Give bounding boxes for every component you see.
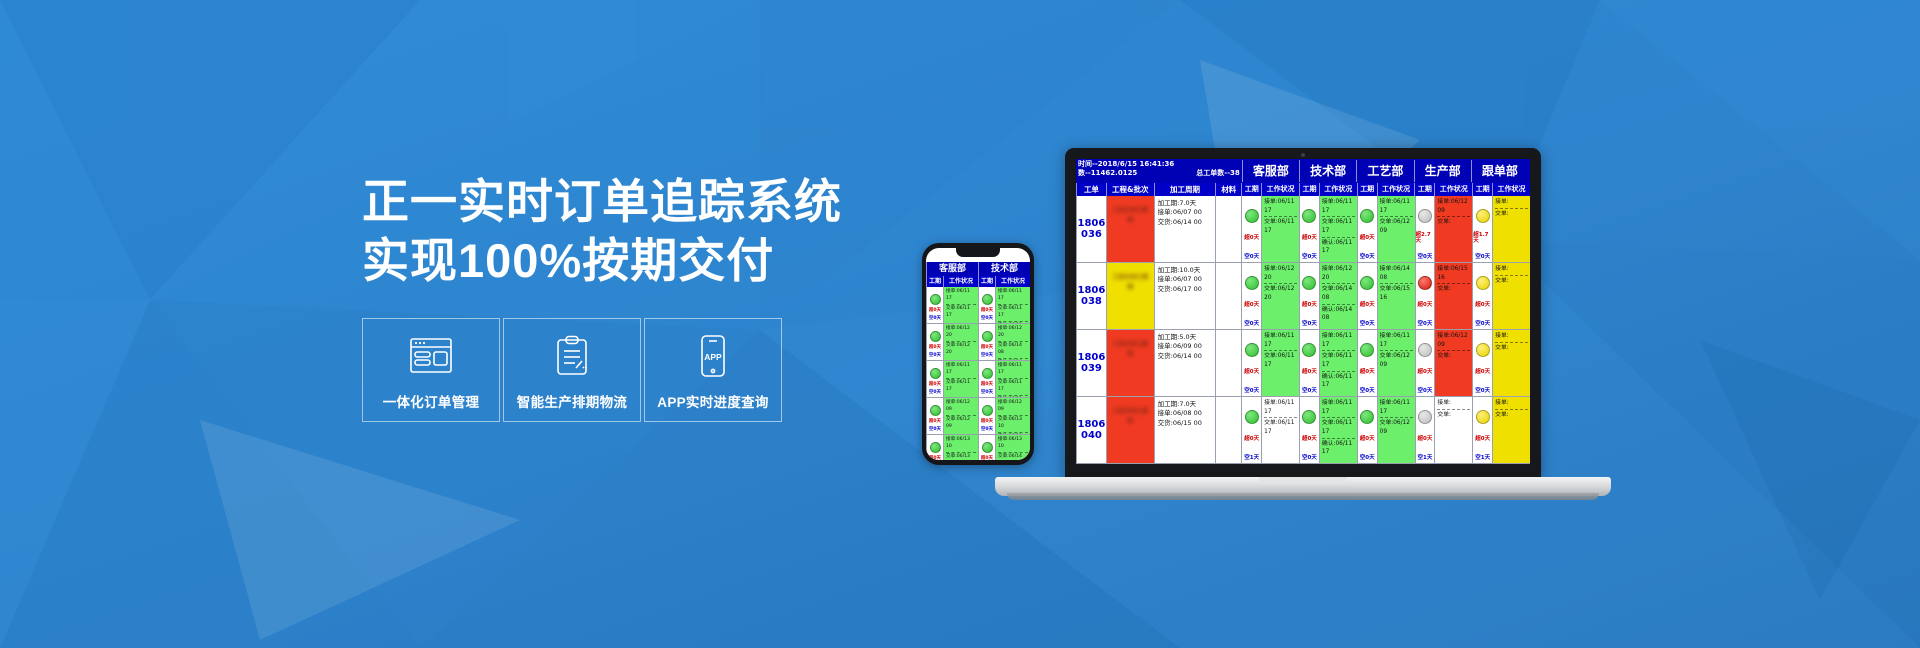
idle-days-tag: 空0天 xyxy=(981,391,993,396)
dept-duration-cell[interactable]: 超0天空0天 xyxy=(978,324,995,360)
dept-work-status-cell[interactable]: 接单:06/13 10交单:06/13 10 xyxy=(943,435,978,460)
idle-days-tag: 空0天 xyxy=(1475,322,1490,328)
erp-column-header: 工期 xyxy=(1414,183,1434,196)
dept-work-status-cell[interactable]: 接单:06/12 20交单:06/14 08确认:06/14 08 xyxy=(1319,263,1357,329)
work-status-line: 交单: xyxy=(1437,411,1470,420)
dept-work-status-cell[interactable]: 接单:06/11 17交单:06/11 17确认:06/11 17 xyxy=(1319,330,1357,396)
work-status-line: 接单:06/12 09 xyxy=(998,400,1028,414)
over-days-tag: 超0天 xyxy=(1360,303,1375,309)
idle-days-tag: 空0天 xyxy=(1475,389,1490,395)
dept-duration-cell[interactable]: 超0天空0天 xyxy=(1299,263,1319,329)
work-status-line: 交单:06/11 17 xyxy=(1264,419,1297,436)
status-indicator-green-icon xyxy=(1302,209,1316,223)
erp-department-header: 客服部 xyxy=(1242,160,1299,182)
schedule-line: 接单:06/08 00 xyxy=(1158,409,1214,418)
work-status-line: 接单:06/11 17 xyxy=(1322,198,1355,215)
erp-column-header: 工单 xyxy=(1076,183,1106,196)
schedule-line: 接单:06/09 00 xyxy=(1158,342,1214,351)
dept-work-status-cell[interactable]: 接单:06/12 09交单: xyxy=(1434,330,1472,396)
status-indicator-green-icon xyxy=(930,331,941,342)
table-row[interactable]: 超0天空0天接单:06/11 17交单:06/11 17超0天空0天接单:06/… xyxy=(926,287,1030,324)
over-days-tag: 超0天 xyxy=(1475,437,1490,443)
work-status-line: 交单:06/11 17 xyxy=(1322,218,1355,235)
order-number-top: 1806 xyxy=(1078,285,1106,296)
over-days-tag: 超0天 xyxy=(1302,303,1317,309)
dept-duration-cell[interactable]: 超0天空0天 xyxy=(1472,263,1492,329)
order-number-bottom: 038 xyxy=(1081,296,1102,307)
erp-column-header: 工期 xyxy=(926,276,943,287)
work-status-line: 交单:06/11 17 xyxy=(946,306,976,320)
work-status-line: 交单: xyxy=(1495,210,1528,219)
work-status-line: 交单:06/15 16 xyxy=(1380,285,1413,302)
over-days-tag: 超0天 xyxy=(1302,236,1317,242)
dept-work-status-cell[interactable]: 接单:06/11 17交单:06/11 17确认:06/11 17 xyxy=(995,361,1030,397)
erp-column-header: 工期 xyxy=(1299,183,1319,196)
dept-duration-cell[interactable]: 超0天空0天 xyxy=(1357,196,1377,262)
work-status-line: 交单: xyxy=(1437,352,1470,361)
idle-days-tag: 空1天 xyxy=(1475,456,1490,462)
project-batch-cell[interactable]: 工程名称已模糊 xyxy=(1106,330,1154,396)
work-status-line: 确认:06/11 17 xyxy=(1322,440,1355,457)
table-row[interactable]: 1806036工程名称已模糊加工期:7.0天接单:06/07 00交货:06/1… xyxy=(1076,196,1530,263)
browser-window-icon xyxy=(409,332,453,380)
over-days-tag: 超0天 xyxy=(981,383,993,388)
dept-work-status-cell[interactable]: 接单:06/14 08交单:06/15 16 xyxy=(1377,263,1415,329)
dept-duration-cell[interactable]: 超0天空1天 xyxy=(1472,397,1492,463)
hero-copy: 正一实时订单追踪系统 实现100%按期交付 xyxy=(362,172,882,290)
over-days-tag: 超0天 xyxy=(1302,370,1317,376)
work-status-line: 交单:06/12 20 xyxy=(1264,285,1297,302)
idle-days-tag: 空0天 xyxy=(1244,389,1259,395)
schedule-line: 加工期:5.0天 xyxy=(1158,333,1214,342)
schedule-line: 加工期:10.0天 xyxy=(1158,266,1214,275)
dept-work-status-cell[interactable]: 接单:06/11 17交单:06/11 17 xyxy=(943,361,978,397)
work-status-line: 交单:06/12 09 xyxy=(1380,218,1413,235)
status-indicator-green-icon xyxy=(1245,209,1259,223)
erp-column-header: 工作状况 xyxy=(1319,183,1357,196)
status-indicator-grey-icon xyxy=(1418,343,1432,357)
over-days-tag: 超0天 xyxy=(1360,437,1375,443)
idle-days-tag: 空0天 xyxy=(929,391,941,396)
work-status-line: 确认:06/11 17 xyxy=(1322,239,1355,256)
erp-column-header: 工作状况 xyxy=(943,276,978,287)
erp-time-label: 时间--2018/6/15 16:41:36 xyxy=(1078,160,1242,169)
work-status-line: 接单:06/12 09 xyxy=(1437,332,1470,349)
order-number-cell[interactable]: 1806036 xyxy=(1076,196,1106,262)
dept-duration-cell[interactable]: 超0天空0天 xyxy=(1357,397,1377,463)
idle-days-tag: 空0天 xyxy=(1418,255,1433,261)
idle-days-tag: 空0天 xyxy=(1418,322,1433,328)
dept-duration-cell[interactable]: 超0天空0天 xyxy=(978,398,995,434)
status-indicator-yellow-icon xyxy=(1476,343,1490,357)
work-status-line: 交单: xyxy=(1495,277,1528,286)
order-number-cell[interactable]: 1806040 xyxy=(1076,397,1106,463)
work-status-line: 接单:06/12 09 xyxy=(946,400,976,414)
schedule-line: 加工期:7.0天 xyxy=(1158,199,1214,208)
schedule-line: 交货:06/14 00 xyxy=(1158,352,1214,361)
schedule-line: 加工期:7.0天 xyxy=(1158,400,1214,409)
idle-days-tag: 空1天 xyxy=(1418,456,1433,462)
work-status-line: 接单:06/12 09 xyxy=(1437,198,1470,215)
work-status-line: 接单:06/11 17 xyxy=(1380,399,1413,416)
over-days-tag: 超0天 xyxy=(929,420,941,425)
idle-days-tag: 空0天 xyxy=(1418,389,1433,395)
svg-text:APP: APP xyxy=(704,352,722,362)
idle-days-tag: 空1天 xyxy=(1244,456,1259,462)
work-status-line: 接单:06/11 17 xyxy=(998,363,1028,377)
status-indicator-green-icon xyxy=(982,368,993,379)
over-days-tag: 超0天 xyxy=(1418,303,1433,309)
idle-days-tag: 空0天 xyxy=(1302,389,1317,395)
table-row[interactable]: 超0天空0天接单:06/11 17交单:06/11 17超0天空0天接单:06/… xyxy=(926,361,1030,398)
order-number-cell[interactable]: 1806038 xyxy=(1076,263,1106,329)
work-status-line: 交单: xyxy=(1437,285,1470,294)
project-batch-text: 工程名称已模糊 xyxy=(1107,330,1154,370)
over-days-tag: 超0天 xyxy=(981,457,993,461)
erp-department-header: 客服部 xyxy=(926,262,978,276)
dept-duration-cell[interactable]: 超0天空0天 xyxy=(1472,330,1492,396)
dept-duration-cell[interactable]: 超0天空0天 xyxy=(1415,263,1435,329)
status-indicator-green-icon xyxy=(930,442,941,453)
processing-cycle-cell[interactable]: 加工期:10.0天接单:06/07 00交货:06/17 00 xyxy=(1154,263,1216,329)
status-indicator-green-icon xyxy=(1360,343,1374,357)
phone-notch xyxy=(956,248,1000,257)
dept-work-status-cell[interactable]: 接单:交单: xyxy=(1492,397,1530,463)
work-status-line: 接单:06/11 17 xyxy=(1264,332,1297,349)
work-status-line: 交单:06/11 17 xyxy=(998,380,1028,394)
status-indicator-green-icon xyxy=(930,294,941,305)
dept-duration-cell[interactable]: 超1.7天空0天 xyxy=(1472,196,1492,262)
order-number-top: 1806 xyxy=(1078,419,1106,430)
status-indicator-yellow-icon xyxy=(1476,209,1490,223)
dept-work-status-cell[interactable]: 接单:06/12 09交单:06/13 10确认:06/13 10 xyxy=(995,398,1030,434)
status-indicator-green-icon xyxy=(982,442,993,453)
order-number-top: 1806 xyxy=(1078,218,1106,229)
work-status-line: 交单:06/14 11 xyxy=(998,454,1028,460)
dept-work-status-cell[interactable]: 接单:06/11 17交单:06/11 17 xyxy=(1261,196,1299,262)
dept-work-status-cell[interactable]: 接单:06/12 09交单: xyxy=(1434,196,1472,262)
dept-duration-cell[interactable]: 超0天空1天 xyxy=(1241,397,1261,463)
work-status-line: 接单:06/11 17 xyxy=(998,289,1028,303)
work-status-line: 交单:06/11 17 xyxy=(946,380,976,394)
idle-days-tag: 空0天 xyxy=(1360,322,1375,328)
dept-work-status-cell[interactable]: 接单:交单: xyxy=(1492,330,1530,396)
over-days-tag: 超0天 xyxy=(1418,370,1433,376)
status-indicator-green-icon xyxy=(1360,209,1374,223)
dept-work-status-cell[interactable]: 接单:06/12 20交单:06/12 20 xyxy=(1261,263,1299,329)
table-row[interactable]: 1806039工程名称已模糊加工期:5.0天接单:06/09 00交货:06/1… xyxy=(1076,330,1530,397)
dept-duration-cell[interactable]: 超0天空0天 xyxy=(1299,330,1319,396)
dept-work-status-cell[interactable]: 接单:06/11 17交单:06/11 17 xyxy=(943,287,978,323)
over-days-tag: 超0天 xyxy=(1475,370,1490,376)
work-status-line: 交单:06/11 17 xyxy=(1322,419,1355,436)
status-indicator-green-icon xyxy=(982,331,993,342)
material-cell[interactable] xyxy=(1215,196,1241,262)
over-days-tag: 超0天 xyxy=(929,346,941,351)
dept-duration-cell[interactable]: 超0天空0天 xyxy=(926,324,943,360)
work-status-line: 接单:06/13 10 xyxy=(998,437,1028,451)
erp-column-header: 材料 xyxy=(1215,183,1241,196)
processing-cycle-cell[interactable]: 加工期:7.0天接单:06/07 00交货:06/14 00 xyxy=(1154,196,1216,262)
table-row[interactable]: 超0天空0天接单:06/12 09交单:06/12 09超0天空0天接单:06/… xyxy=(926,398,1030,435)
project-batch-text: 工程名称已模糊 xyxy=(1107,397,1154,437)
status-indicator-green-icon xyxy=(1245,276,1259,290)
dept-work-status-cell[interactable]: 接单:06/13 10交单:06/14 11确认:06/14 11 xyxy=(995,435,1030,460)
work-status-line: 交单:06/13 10 xyxy=(946,454,976,460)
idle-days-tag: 空0天 xyxy=(1302,322,1317,328)
phone-table-body: 超0天空0天接单:06/11 17交单:06/11 17超0天空0天接单:06/… xyxy=(926,287,1030,460)
status-indicator-green-icon xyxy=(1302,410,1316,424)
work-status-line: 接单:06/11 17 xyxy=(1264,399,1297,416)
erp-column-header: 加工周期 xyxy=(1154,183,1216,196)
work-status-line: 接单: xyxy=(1495,198,1528,207)
work-status-line: 接单:06/14 08 xyxy=(1380,265,1413,282)
processing-cycle-cell[interactable]: 加工期:5.0天接单:06/09 00交货:06/14 00 xyxy=(1154,330,1216,396)
schedule-line: 接单:06/07 00 xyxy=(1158,208,1214,217)
idle-days-tag: 空0天 xyxy=(929,428,941,433)
schedule-line: 交货:06/15 00 xyxy=(1158,419,1214,428)
erp-column-header: 工期 xyxy=(1241,183,1261,196)
over-days-tag: 超0天 xyxy=(1302,437,1317,443)
erp-column-header: 工作状况 xyxy=(1434,183,1472,196)
over-days-tag: 超0天 xyxy=(929,457,941,461)
project-batch-text: 工程名称已模糊 xyxy=(1107,263,1154,303)
erp-column-header: 工作状况 xyxy=(1377,183,1415,196)
feature-card-app-progress-query[interactable]: APP APP实时进度查询 xyxy=(644,318,782,422)
project-batch-cell[interactable]: 工程名称已模糊 xyxy=(1106,397,1154,463)
work-status-line: 交单:06/11 17 xyxy=(1322,352,1355,369)
dept-work-status-cell[interactable]: 接单:06/11 17交单:06/11 17 xyxy=(1261,330,1299,396)
erp-column-header: 工作状况 xyxy=(1492,183,1530,196)
table-row[interactable]: 1806038工程名称已模糊加工期:10.0天接单:06/07 00交货:06/… xyxy=(1076,263,1530,330)
mobile-app-icon: APP xyxy=(698,332,728,380)
over-days-tag: 超0天 xyxy=(929,309,941,314)
dept-work-status-cell[interactable]: 接单:交单: xyxy=(1492,196,1530,262)
order-number-bottom: 039 xyxy=(1081,363,1102,374)
status-indicator-green-icon xyxy=(1360,276,1374,290)
work-status-line: 接单:06/12 20 xyxy=(946,326,976,340)
erp-total-label: 总工单数--38 xyxy=(1196,169,1240,178)
work-status-line: 交单:06/12 20 xyxy=(946,343,976,357)
over-days-tag: 超0天 xyxy=(1244,370,1259,376)
idle-days-tag: 空0天 xyxy=(981,428,993,433)
work-status-line: 接单: xyxy=(1495,265,1528,274)
project-batch-text: 工程名称已模糊 xyxy=(1107,196,1154,236)
status-indicator-green-icon xyxy=(1302,276,1316,290)
dept-duration-cell[interactable]: 超0天空0天 xyxy=(1241,196,1261,262)
work-status-line: 接单: xyxy=(1437,399,1470,408)
dept-duration-cell[interactable]: 超0天空0天 xyxy=(978,435,995,460)
erp-column-header: 工期 xyxy=(1472,183,1492,196)
status-indicator-yellow-icon xyxy=(1476,276,1490,290)
dept-work-status-cell[interactable]: 接单:06/11 17交单:06/12 09 xyxy=(1377,330,1415,396)
phone-mockup: 客服部技术部工期工作状况工期工作状况超0天空0天接单:06/11 17交单:06… xyxy=(922,243,1034,465)
laptop-lid: 时间--2018/6/15 16:41:36数--11462.0125总工单数-… xyxy=(1065,148,1541,480)
phone-body: 客服部技术部工期工作状况工期工作状况超0天空0天接单:06/11 17交单:06… xyxy=(922,243,1034,465)
dept-duration-cell[interactable]: 超0天空0天 xyxy=(1299,196,1319,262)
headline-line-1: 正一实时订单追踪系统 xyxy=(362,172,882,231)
over-days-tag: 超0天 xyxy=(1244,236,1259,242)
status-indicator-green-icon xyxy=(1360,410,1374,424)
work-status-line: 交单:06/11 17 xyxy=(998,306,1028,320)
feature-label: 智能生产排期物流 xyxy=(517,391,627,411)
over-days-tag: 超0天 xyxy=(1475,303,1490,309)
dept-duration-cell[interactable]: 超0天空0天 xyxy=(926,287,943,323)
work-status-line: 接单:06/12 20 xyxy=(1322,265,1355,282)
order-number-bottom: 036 xyxy=(1081,229,1102,240)
erp-table-body: 1806036工程名称已模糊加工期:7.0天接单:06/07 00交货:06/1… xyxy=(1076,196,1530,464)
material-cell[interactable] xyxy=(1215,397,1241,463)
erp-column-header: 工作状况 xyxy=(995,276,1030,287)
dept-work-status-cell[interactable]: 接单:交单: xyxy=(1434,397,1472,463)
work-status-line: 接单:06/11 17 xyxy=(1322,399,1355,416)
status-indicator-green-icon xyxy=(1245,343,1259,357)
feature-list: 一体化订单管理 智能生产排期物流 APP AP xyxy=(362,318,782,422)
table-row[interactable]: 超0天空0天接单:06/13 10交单:06/13 10超0天空0天接单:06/… xyxy=(926,435,1030,460)
status-indicator-green-icon xyxy=(982,294,993,305)
phone-screen[interactable]: 客服部技术部工期工作状况工期工作状况超0天空0天接单:06/11 17交单:06… xyxy=(926,248,1030,460)
dept-duration-cell[interactable]: 超0天空0天 xyxy=(978,361,995,397)
order-number-top: 1806 xyxy=(1078,352,1106,363)
work-status-line: 接单: xyxy=(1495,332,1528,341)
dept-work-status-cell[interactable]: 接单:06/12 20交单:06/12 20 xyxy=(943,324,978,360)
dept-work-status-cell[interactable]: 接单:06/11 17交单:06/11 17确认:06/11 17 xyxy=(995,287,1030,323)
work-status-line: 交单:06/12 09 xyxy=(1380,352,1413,369)
erp-column-header: 工期 xyxy=(978,276,995,287)
work-status-line: 交单:06/14 08 xyxy=(1322,285,1355,302)
erp-department-header: 技术部 xyxy=(978,262,1030,276)
work-status-line: 接单: xyxy=(1495,399,1528,408)
dept-duration-cell[interactable]: 超0天空0天 xyxy=(1241,330,1261,396)
dept-duration-cell[interactable]: 超0天空0天 xyxy=(978,287,995,323)
work-status-line: 接单:06/15 16 xyxy=(1437,265,1470,282)
status-indicator-red-icon xyxy=(1418,276,1432,290)
work-status-line: 接单:06/11 17 xyxy=(946,363,976,377)
dept-work-status-cell[interactable]: 接单:06/11 17交单:06/12 09 xyxy=(1377,397,1415,463)
feature-card-production-scheduling[interactable]: 智能生产排期物流 xyxy=(503,318,641,422)
over-days-tag: 超0天 xyxy=(1360,370,1375,376)
over-days-tag: 超0天 xyxy=(1244,437,1259,443)
dept-duration-cell[interactable]: 超0天空0天 xyxy=(1299,397,1319,463)
work-status-line: 接单:06/11 17 xyxy=(1380,332,1413,349)
erp-column-header-row: 工单工程&批次加工周期材料工期工作状况工期工作状况工期工作状况工期工作状况工期工… xyxy=(1076,183,1530,196)
over-days-tag: 超0天 xyxy=(981,309,993,314)
table-row[interactable]: 超0天空0天接单:06/12 20交单:06/12 20超0天空0天接单:06/… xyxy=(926,324,1030,361)
dept-duration-cell[interactable]: 超0天空0天 xyxy=(1415,330,1435,396)
idle-days-tag: 空0天 xyxy=(981,354,993,359)
material-cell[interactable] xyxy=(1215,263,1241,329)
dept-work-status-cell[interactable]: 接单:06/12 20交单:06/14 08确认:06/14 08 xyxy=(995,324,1030,360)
status-indicator-grey-icon xyxy=(1418,410,1432,424)
work-status-line: 交单: xyxy=(1495,411,1528,420)
erp-department-header: 生产部 xyxy=(1414,160,1471,182)
project-batch-cell[interactable]: 工程名称已模糊 xyxy=(1106,196,1154,262)
phone-column-header-row: 工期工作状况工期工作状况 xyxy=(926,276,1030,287)
work-status-line: 接单:06/12 20 xyxy=(998,326,1028,340)
processing-cycle-cell[interactable]: 加工期:7.0天接单:06/08 00交货:06/15 00 xyxy=(1154,397,1216,463)
status-indicator-green-icon xyxy=(1302,343,1316,357)
idle-days-tag: 空0天 xyxy=(929,354,941,359)
work-status-line: 交单: xyxy=(1495,344,1528,353)
work-status-line: 交单:06/13 10 xyxy=(998,417,1028,431)
work-status-line: 交单:06/14 08 xyxy=(998,343,1028,357)
dept-duration-cell[interactable]: 超0天空1天 xyxy=(1415,397,1435,463)
erp-count-label: 数--11462.0125 xyxy=(1078,169,1137,178)
work-status-line: 接单:06/11 17 xyxy=(1322,332,1355,349)
idle-days-tag: 空0天 xyxy=(1302,255,1317,261)
work-status-line: 接单:06/12 20 xyxy=(1264,265,1297,282)
dept-duration-cell[interactable]: 超0天空0天 xyxy=(926,435,943,460)
dept-duration-cell[interactable]: 超0天空0天 xyxy=(1357,263,1377,329)
dept-work-status-cell[interactable]: 接单:06/11 17交单:06/11 17 xyxy=(1261,397,1299,463)
table-row[interactable]: 1806040工程名称已模糊加工期:7.0天接单:06/08 00交货:06/1… xyxy=(1076,397,1530,464)
over-days-tag: 超0天 xyxy=(981,420,993,425)
work-status-line: 交单:06/12 09 xyxy=(1380,419,1413,436)
erp-department-header: 技术部 xyxy=(1299,160,1356,182)
order-number-cell[interactable]: 1806039 xyxy=(1076,330,1106,396)
work-status-line: 接单:06/11 17 xyxy=(1380,198,1413,215)
erp-column-header: 工期 xyxy=(1357,183,1377,196)
schedule-line: 交货:06/14 00 xyxy=(1158,218,1214,227)
over-days-tag: 超0天 xyxy=(1418,437,1433,443)
dept-duration-cell[interactable]: 超0天空0天 xyxy=(926,398,943,434)
schedule-line: 交货:06/17 00 xyxy=(1158,285,1214,294)
idle-days-tag: 空0天 xyxy=(1360,389,1375,395)
dept-work-status-cell[interactable]: 接单:06/11 17交单:06/11 17确认:06/11 17 xyxy=(1319,196,1357,262)
clipboard-checklist-icon xyxy=(555,332,589,380)
idle-days-tag: 空0天 xyxy=(1360,456,1375,462)
over-days-tag: 超2.7天 xyxy=(1416,233,1435,244)
erp-department-header: 工艺部 xyxy=(1356,160,1413,182)
dept-duration-cell[interactable]: 超0天空0天 xyxy=(1241,263,1261,329)
over-days-tag: 超1.7天 xyxy=(1473,233,1492,244)
phone-department-header-row: 客服部技术部 xyxy=(926,262,1030,276)
erp-column-header: 工作状况 xyxy=(1261,183,1299,196)
work-status-line: 交单:06/11 17 xyxy=(1264,352,1297,369)
status-indicator-yellow-icon xyxy=(1476,410,1490,424)
headline-line-2: 实现100%按期交付 xyxy=(362,231,882,290)
status-indicator-green-icon xyxy=(930,405,941,416)
work-status-line: 确认:06/14 08 xyxy=(1322,306,1355,323)
work-status-line: 交单:06/12 09 xyxy=(946,417,976,431)
dept-work-status-cell[interactable]: 接单:06/15 16交单: xyxy=(1434,263,1472,329)
idle-days-tag: 空0天 xyxy=(1244,255,1259,261)
work-status-line: 接单:06/11 17 xyxy=(946,289,976,303)
dept-work-status-cell[interactable]: 接单:06/11 17交单:06/11 17确认:06/11 17 xyxy=(1319,397,1357,463)
erp-titlebar: 时间--2018/6/15 16:41:36数--11462.0125总工单数-… xyxy=(1076,159,1530,183)
material-cell[interactable] xyxy=(1215,330,1241,396)
laptop-screen[interactable]: 时间--2018/6/15 16:41:36数--11462.0125总工单数-… xyxy=(1076,159,1530,464)
dept-duration-cell[interactable]: 超0天空0天 xyxy=(926,361,943,397)
dept-work-status-cell[interactable]: 接单:交单: xyxy=(1492,263,1530,329)
idle-days-tag: 空0天 xyxy=(981,317,993,322)
status-indicator-green-icon xyxy=(930,368,941,379)
idle-days-tag: 空0天 xyxy=(1244,322,1259,328)
work-status-line: 交单:06/11 17 xyxy=(1264,218,1297,235)
over-days-tag: 超0天 xyxy=(1360,236,1375,242)
feature-card-order-management[interactable]: 一体化订单管理 xyxy=(362,318,500,422)
idle-days-tag: 空0天 xyxy=(1360,255,1375,261)
dept-duration-cell[interactable]: 超2.7天空0天 xyxy=(1415,196,1435,262)
over-days-tag: 超0天 xyxy=(981,346,993,351)
over-days-tag: 超0天 xyxy=(929,383,941,388)
dept-duration-cell[interactable]: 超0天空0天 xyxy=(1357,330,1377,396)
dept-work-status-cell[interactable]: 接单:06/11 17交单:06/12 09 xyxy=(1377,196,1415,262)
project-batch-cell[interactable]: 工程名称已模糊 xyxy=(1106,263,1154,329)
feature-label: 一体化订单管理 xyxy=(383,391,480,411)
feature-label: APP实时进度查询 xyxy=(657,391,768,411)
dept-work-status-cell[interactable]: 接单:06/12 09交单:06/12 09 xyxy=(943,398,978,434)
